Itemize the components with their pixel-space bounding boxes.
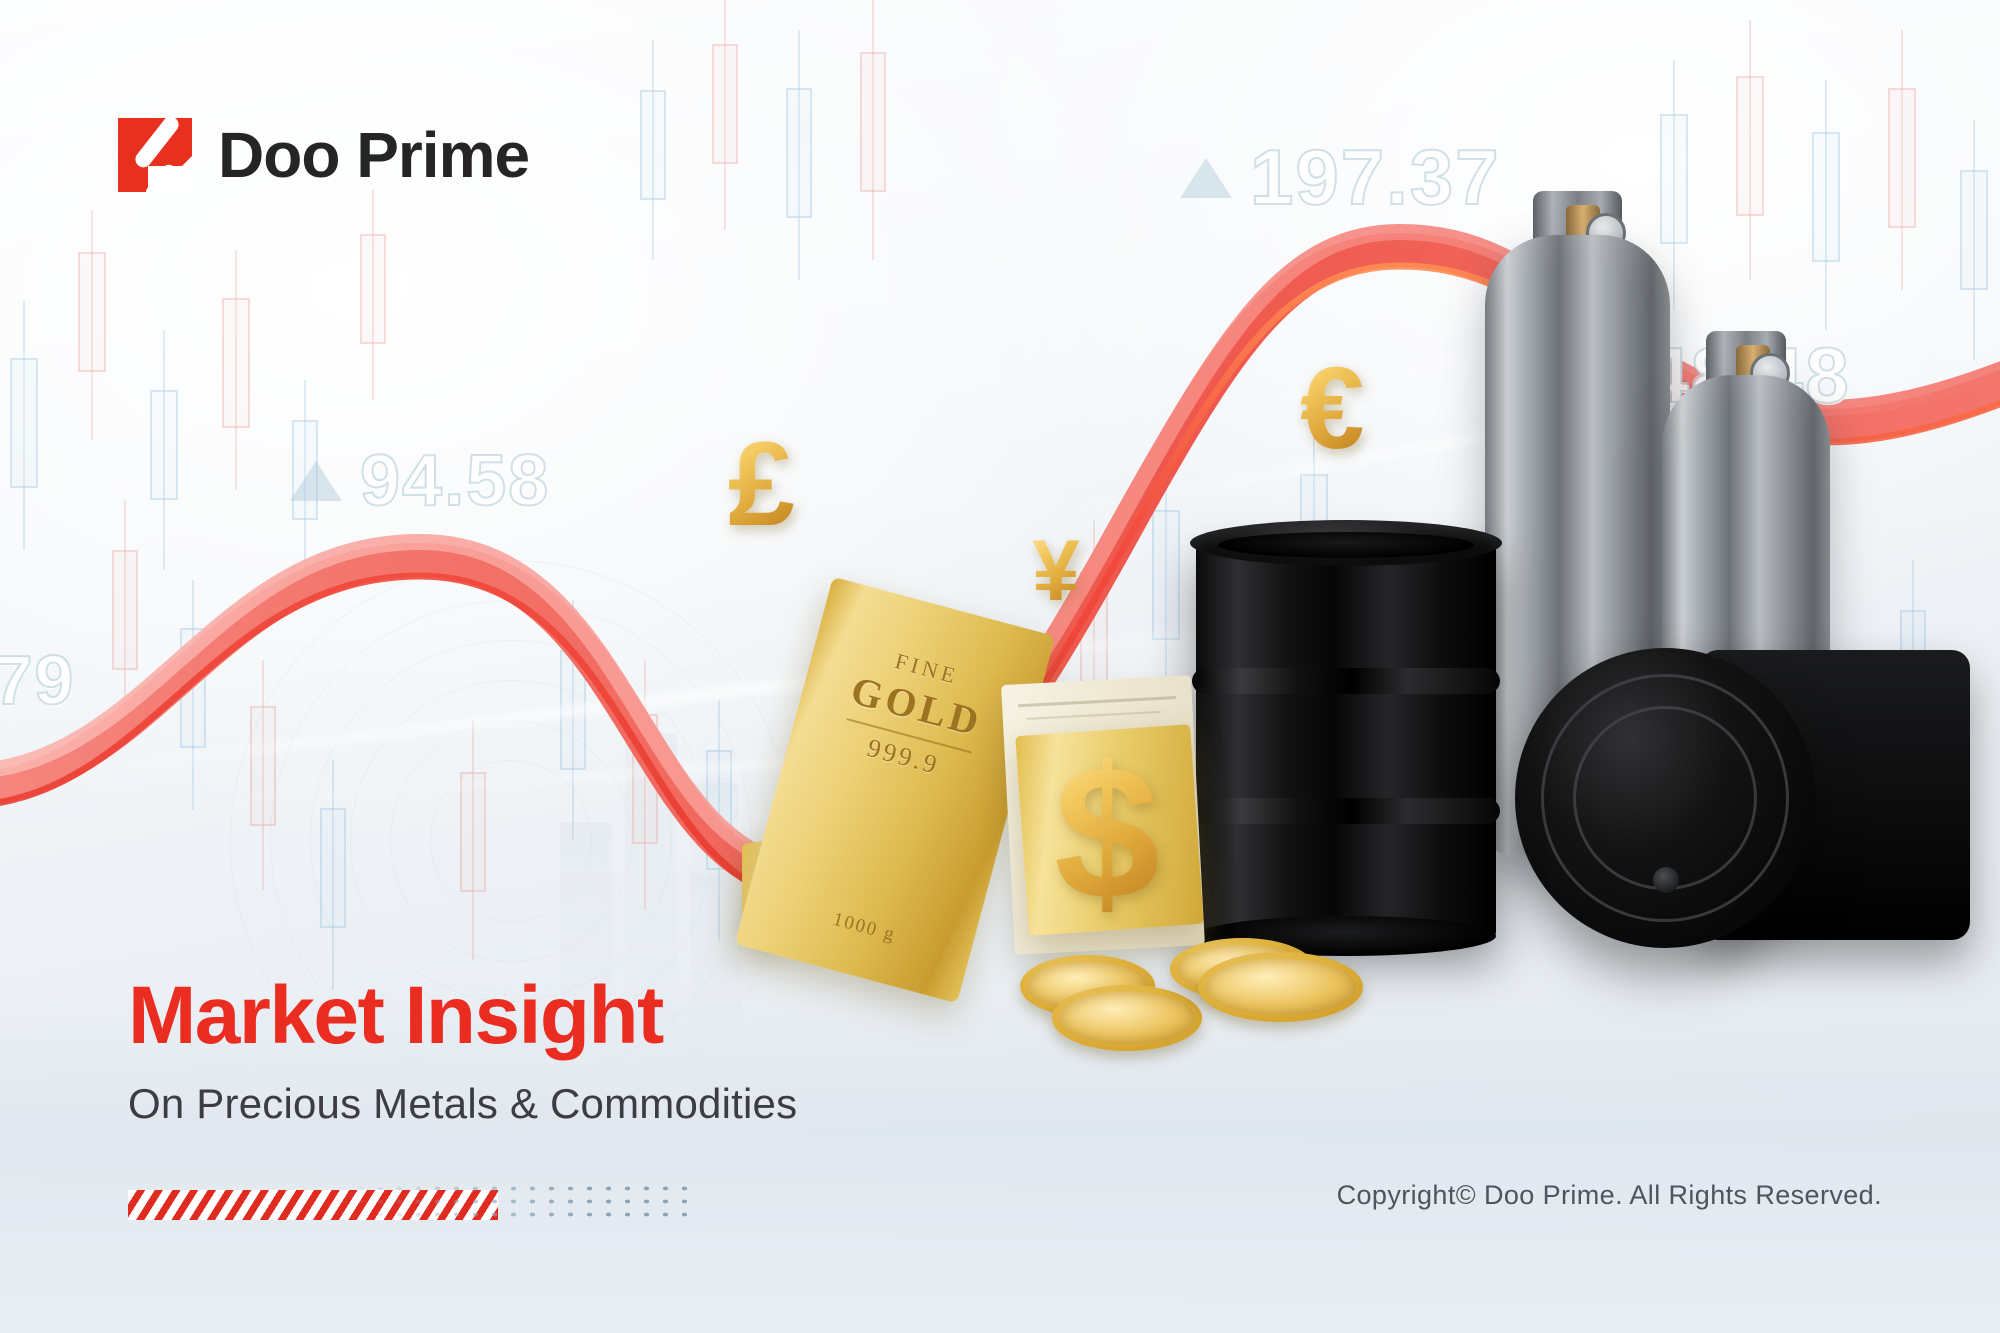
ticker-value: 197.37 bbox=[1250, 132, 1501, 223]
brand-logo[interactable]: Doo Prime bbox=[118, 118, 529, 192]
gold-coin bbox=[1052, 985, 1202, 1051]
copyright-text: Copyright© Doo Prime. All Rights Reserve… bbox=[1337, 1180, 1882, 1211]
light-streak bbox=[5, 605, 1396, 786]
page-title: Market Insight bbox=[128, 975, 797, 1057]
oil-barrel-standing bbox=[1196, 540, 1496, 940]
page-subtitle: On Precious Metals & Commodities bbox=[128, 1083, 797, 1125]
ticker-94: 94.58 bbox=[290, 440, 550, 522]
yen-symbol: ¥ bbox=[1032, 528, 1080, 614]
ticker-partial: .79 bbox=[0, 640, 75, 720]
ticker-197: 197.37 bbox=[1180, 132, 1501, 223]
gas-cylinder-small bbox=[1662, 375, 1830, 855]
gold-bar-secondary bbox=[1015, 724, 1204, 936]
gas-cylinder-large bbox=[1485, 235, 1670, 855]
red-ribbon-curve bbox=[0, 0, 2000, 1333]
triangle-up-icon bbox=[1180, 158, 1232, 198]
cash-stack bbox=[1001, 675, 1205, 955]
ticker-148: 148.48 bbox=[1530, 330, 1851, 421]
ticker-value: 148.48 bbox=[1600, 330, 1851, 421]
ticker-value: .79 bbox=[0, 640, 75, 720]
gold-bar-weight-label: 1000 g bbox=[789, 898, 940, 958]
dot-grid bbox=[333, 1182, 688, 1222]
doo-prime-mark-icon bbox=[118, 118, 192, 192]
euro-symbol: € bbox=[1300, 350, 1365, 466]
poster-canvas: .79 94.58 197.37 148.48 bbox=[0, 0, 2000, 1333]
ticker-value: 94.58 bbox=[360, 440, 550, 522]
dollar-symbol: $ bbox=[1054, 738, 1160, 928]
barrel-laying-front bbox=[1515, 648, 1815, 948]
commodities-render: FINE GOLD 999.9 1000 g $ £ ¥ bbox=[0, 0, 2000, 1333]
candlestick-watermark bbox=[0, 0, 2000, 1333]
gold-coin bbox=[1198, 952, 1363, 1022]
light-streak bbox=[151, 716, 1398, 810]
decorative-bar bbox=[128, 1182, 688, 1224]
barrel-stack-body bbox=[1700, 650, 1970, 940]
pound-symbol: £ bbox=[728, 424, 795, 544]
gold-bar-base bbox=[742, 816, 922, 935]
gold-coin bbox=[1170, 938, 1315, 1000]
gold-coin bbox=[1020, 955, 1155, 1017]
headline-block: Market Insight On Precious Metals & Comm… bbox=[128, 975, 797, 1125]
triangle-down-icon bbox=[1530, 356, 1582, 396]
brand-name: Doo Prime bbox=[218, 123, 529, 187]
triangle-up-icon bbox=[290, 461, 342, 501]
gold-bar-main: FINE GOLD 999.9 1000 g bbox=[735, 577, 1056, 1004]
